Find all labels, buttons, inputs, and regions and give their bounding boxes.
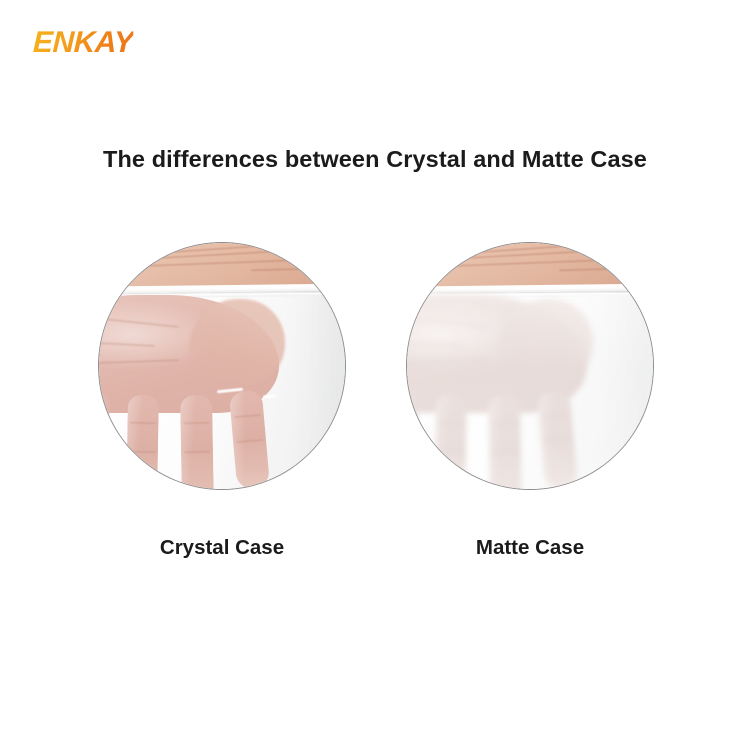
- finger: [126, 395, 159, 489]
- crystal-case-photo: [99, 243, 345, 489]
- knuckle-crease: [130, 422, 156, 424]
- knuckle-crease: [544, 439, 572, 443]
- crystal-scene: [99, 243, 345, 489]
- palm-line: [99, 359, 179, 365]
- palm-line: [407, 312, 487, 328]
- comparison-panel-matte: [407, 243, 653, 489]
- knuckle-crease: [407, 445, 413, 449]
- knuckle-crease: [491, 422, 518, 424]
- skin-crease: [251, 266, 345, 271]
- product-comparison-image: ENKAY The differences between Crystal an…: [0, 0, 750, 750]
- finger: [229, 390, 270, 489]
- finger: [180, 395, 214, 489]
- knuckle-crease: [236, 439, 264, 443]
- finger: [434, 395, 467, 489]
- finger: [537, 390, 578, 489]
- page-title: The differences between Crystal and Matt…: [0, 146, 750, 173]
- palm-line: [99, 339, 155, 347]
- comparison-panel-crystal: [99, 243, 345, 489]
- knuckle-crease: [407, 417, 415, 421]
- knuckle-crease: [183, 422, 210, 424]
- skin-crease: [559, 266, 653, 271]
- knuckle-crease: [99, 445, 105, 449]
- palm-line: [99, 312, 179, 328]
- caption-crystal-case: Crystal Case: [99, 536, 345, 560]
- finger: [99, 390, 111, 489]
- matte-case-photo: [407, 243, 653, 489]
- thumb-base: [189, 299, 285, 385]
- knuckle-crease: [184, 451, 211, 453]
- thumb-base: [497, 299, 593, 385]
- skin-crease: [118, 258, 327, 268]
- hand-through-case: [407, 295, 653, 489]
- knuckle-crease: [437, 451, 463, 453]
- knuckle-crease: [233, 413, 261, 417]
- bare-forearm-band: [99, 243, 345, 289]
- knuckle-crease: [99, 417, 107, 421]
- palm-line: [407, 359, 487, 365]
- knuckle-crease: [541, 413, 569, 417]
- bare-forearm-band: [407, 243, 653, 289]
- matte-scene: [407, 243, 653, 489]
- finger: [488, 395, 522, 489]
- knuckle-crease: [438, 422, 464, 424]
- caption-matte-case: Matte Case: [407, 536, 653, 560]
- knuckle-crease: [492, 451, 519, 453]
- enkay-brand-logo: ENKAY: [32, 28, 133, 58]
- finger: [407, 390, 419, 489]
- palm-line: [407, 339, 463, 347]
- skin-crease: [426, 258, 635, 268]
- knuckle-crease: [129, 451, 155, 453]
